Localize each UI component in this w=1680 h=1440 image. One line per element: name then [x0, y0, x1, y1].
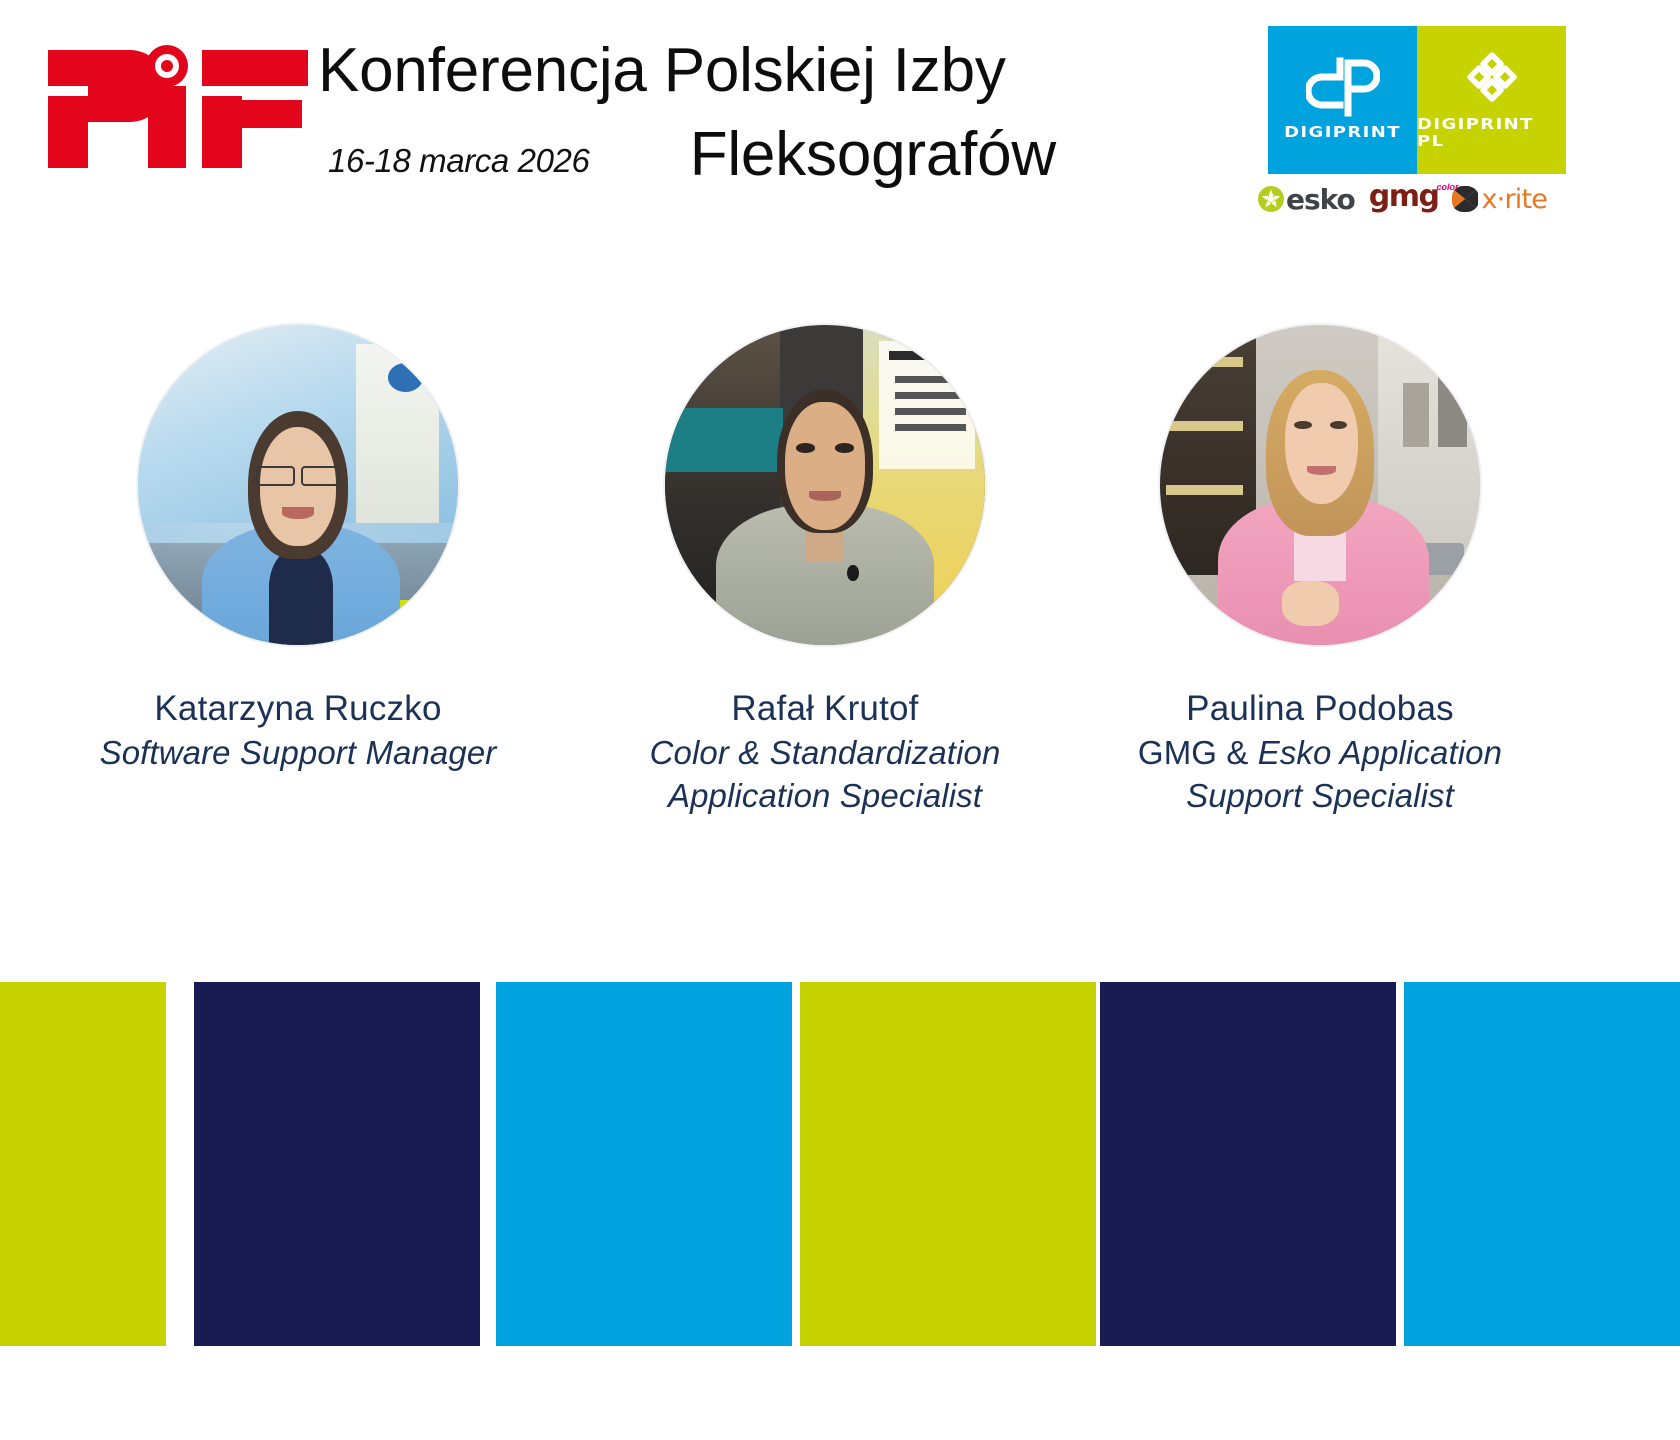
avatar	[665, 325, 985, 645]
color-bar	[194, 982, 480, 1346]
speaker-name: Rafał Krutof	[565, 687, 1085, 731]
avatar	[138, 325, 458, 645]
color-bar	[0, 982, 166, 1346]
digiprint-pl-icon	[1455, 47, 1529, 107]
digiprint-left-panel: DIGIPRINT	[1268, 26, 1417, 174]
speaker-role-line1: Software Support Manager	[38, 731, 558, 775]
esko-wordmark: esko	[1286, 183, 1355, 216]
digiprint-right-label: DIGIPRINT PL	[1417, 115, 1566, 149]
color-bar	[1100, 982, 1396, 1346]
speaker-role-prefix: GMG &	[1138, 734, 1258, 771]
speaker-name: Katarzyna Ruczko	[38, 687, 558, 731]
esko-logo: esko	[1258, 184, 1355, 214]
xrite-wordmark: x·rite	[1481, 184, 1547, 215]
speakers-row: Katarzyna Ruczko Software Support Manage…	[0, 300, 1680, 880]
avatar	[1160, 325, 1480, 645]
partner-logos-row: esko gmg color x·rite	[1258, 182, 1576, 216]
color-bar	[800, 982, 1096, 1346]
speaker-role-line1: GMG & Esko Application	[1060, 731, 1580, 775]
avatar-photo	[138, 325, 458, 645]
speaker-card: Katarzyna Ruczko Software Support Manage…	[38, 300, 558, 774]
speaker-card: Rafał Krutof Color & Standardization App…	[565, 300, 1085, 818]
speaker-role-line1: Color & Standardization	[565, 731, 1085, 775]
digiprint-logo: DIGIPRINT DIGIPRINT PL	[1268, 26, 1566, 174]
gmg-logo: gmg color	[1369, 184, 1439, 214]
digiprint-right-panel: DIGIPRINT PL	[1417, 26, 1566, 174]
avatar-photo	[1160, 325, 1480, 645]
page-header: Konferencja Polskiej Izby Fleksografów 1…	[0, 0, 1680, 250]
xrite-logo: x·rite	[1452, 184, 1547, 214]
pif-logo	[44, 42, 312, 172]
color-bar	[1404, 982, 1680, 1346]
esko-star-icon	[1258, 186, 1284, 212]
speaker-role-line2: Application Specialist	[565, 774, 1085, 818]
conference-title-line1: Konferencja Polskiej Izby	[318, 40, 1148, 102]
avatar-photo	[665, 325, 985, 645]
gmg-color-superscript: color	[1436, 182, 1458, 192]
title-block: Konferencja Polskiej Izby Fleksografów 1…	[318, 24, 1218, 184]
footer-color-bars	[0, 982, 1680, 1346]
digiprint-dp-icon	[1306, 57, 1380, 117]
color-bar	[496, 982, 792, 1346]
speaker-card: Paulina Podobas GMG & Esko Application S…	[1060, 300, 1580, 818]
speaker-name: Paulina Podobas	[1060, 687, 1580, 731]
speaker-role-line2: Support Specialist	[1060, 774, 1580, 818]
digiprint-left-label: DIGIPRINT	[1284, 124, 1401, 141]
gmg-wordmark: gmg	[1369, 179, 1439, 214]
conference-date: 16-18 marca 2026	[328, 142, 589, 180]
speaker-role-emphasis: Esko Application	[1258, 734, 1502, 771]
